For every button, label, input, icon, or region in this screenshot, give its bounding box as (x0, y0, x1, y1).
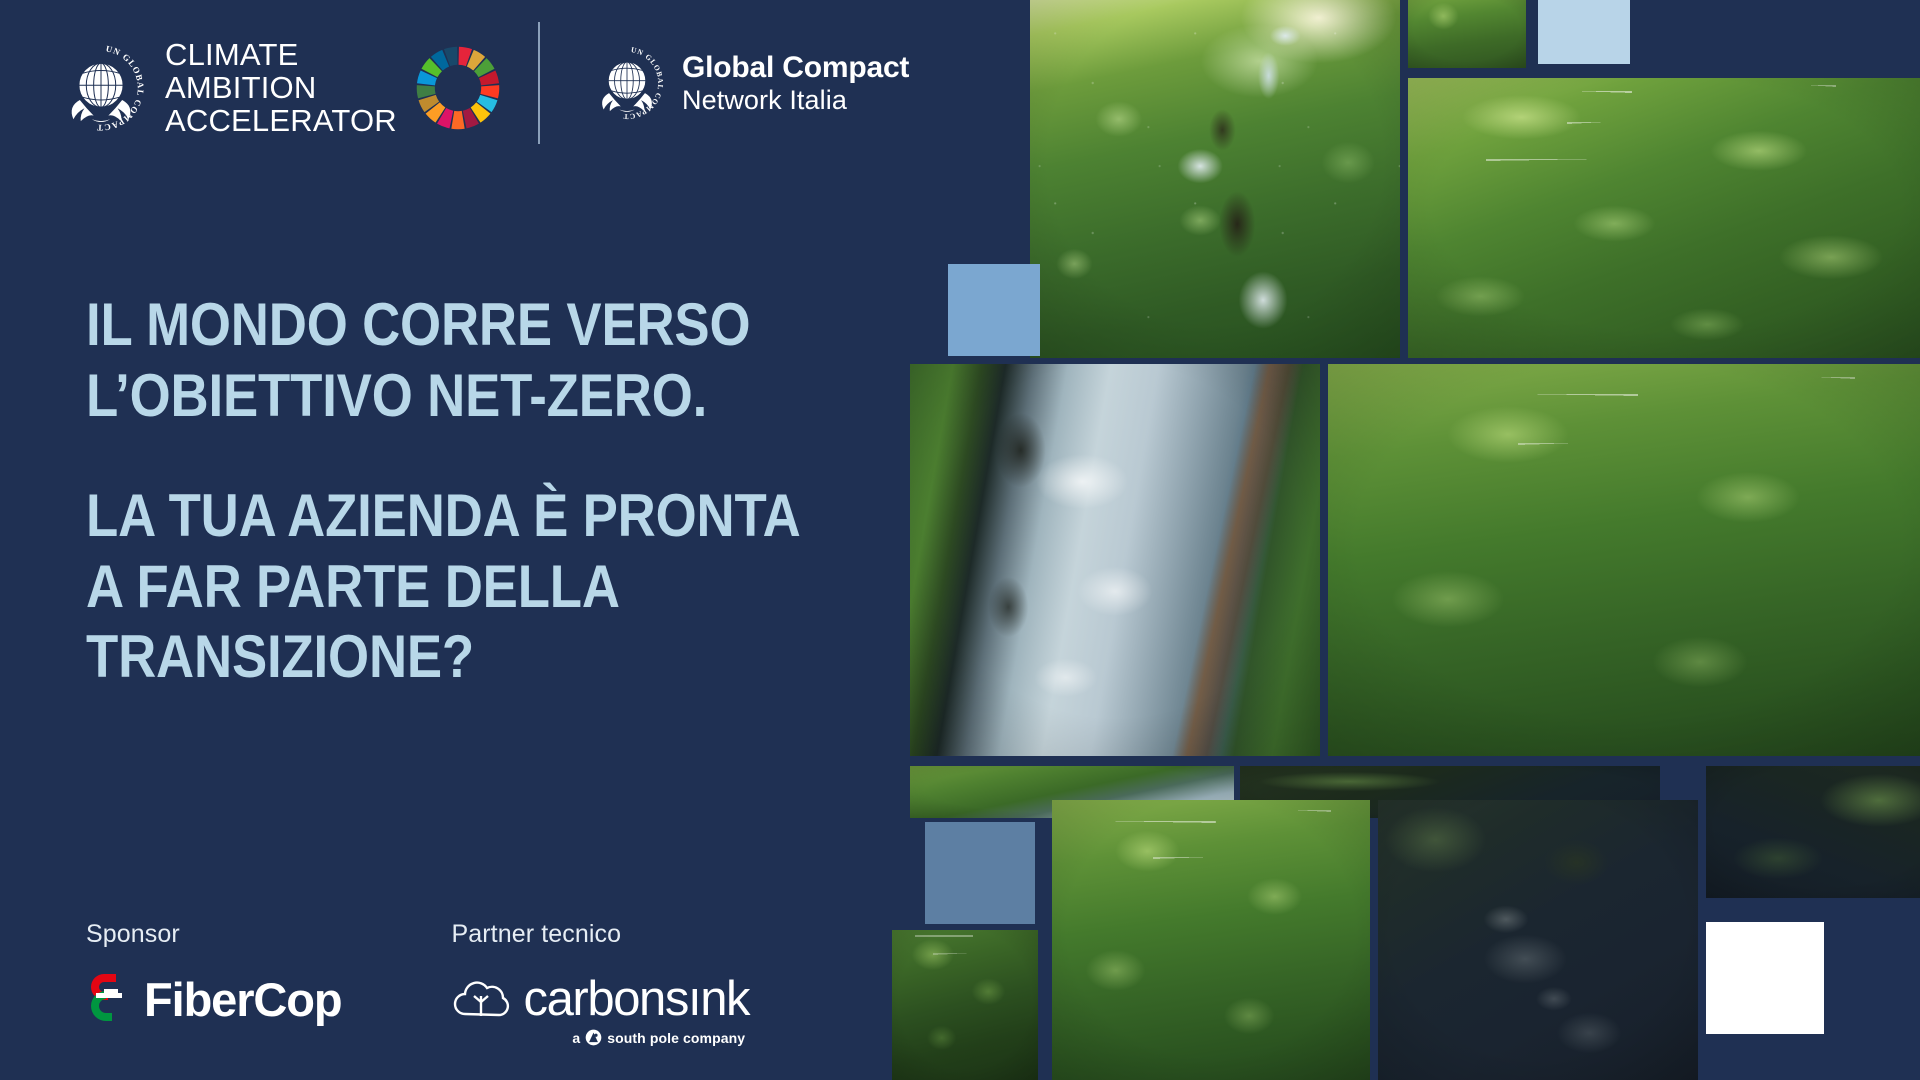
caa-line-2: AMBITION (165, 71, 397, 104)
climate-ambition-accelerator-wordmark: CLIMATE AMBITION ACCELERATOR (165, 38, 397, 137)
photo-river-sky-reflection (910, 364, 1320, 756)
photo-canopy-bright-right-vignette (1408, 78, 1920, 358)
sdg-color-wheel-icon (415, 45, 501, 131)
logo-bar: UN GLOBAL COMPACT (0, 0, 940, 170)
climate-ambition-accelerator-logo: UN GLOBAL COMPACT (55, 38, 501, 137)
footer-logos: Sponsor FiberCop Partner tecnico (86, 920, 749, 1046)
global-compact-network-wordmark: Global Compact Network Italia (682, 51, 909, 115)
photo-canopy-tall-trees-vignette (1052, 800, 1370, 1080)
accent-steel-blue-left (925, 822, 1035, 924)
headline-line-4: A FAR PARTE DELLA (86, 552, 816, 623)
photo-dark-water-reflection-vignette (1378, 800, 1698, 1080)
caa-line-3: ACCELERATOR (165, 104, 397, 137)
carbonsink-row: carbonsınk (451, 971, 749, 1027)
photo-edge-dark-right-vignette (1706, 766, 1920, 898)
photo-canopy-deep-right-vignette (1328, 364, 1920, 756)
photo-strip-canopy-top-vignette (1408, 0, 1526, 68)
sponsor-block: Sponsor FiberCop (86, 920, 341, 1027)
photo-canopy-deep-right (1328, 364, 1920, 756)
photo-forest-sunrise-river-vignette (1030, 0, 1400, 358)
global-compact-network-italia-logo: UN GLOBAL COMPACT (588, 44, 909, 122)
accent-light-blue-top (1538, 0, 1630, 64)
tagline-text: south pole company (607, 1030, 745, 1046)
un-global-compact-emblem-icon: UN GLOBAL COMPACT (588, 44, 666, 122)
photo-forest-shadow-edge (892, 930, 1038, 1080)
accent-mid-blue-left (948, 264, 1040, 356)
photo-dark-water-reflection (1378, 800, 1698, 1080)
photo-edge-dark-right (1706, 766, 1920, 898)
south-pole-tagline: a south pole company (572, 1029, 745, 1046)
photo-forest-sunrise-river (1030, 0, 1400, 358)
partner-block: Partner tecnico carbonsınk a (451, 920, 749, 1046)
headline-spacer (86, 431, 816, 481)
sdg-segment-9 (451, 111, 464, 129)
headline-line-1: IL MONDO CORRE VERSO (86, 290, 816, 361)
tagline-prefix: a (572, 1030, 580, 1046)
carbonsink-wordmark: carbonsınk (523, 971, 749, 1027)
photo-river-sky-reflection-vignette (910, 364, 1320, 756)
sponsor-label: Sponsor (86, 920, 341, 949)
photo-forest-shadow-edge-vignette (892, 930, 1038, 1080)
south-pole-mark-icon (585, 1029, 602, 1046)
photo-strip-canopy-top (1408, 0, 1526, 68)
gcn-line-1: Global Compact (682, 51, 909, 85)
carbonsink-logo: carbonsınk a south pole company (451, 971, 749, 1046)
carbonsink-cloud-tree-icon (451, 976, 513, 1022)
fibercop-mark-icon (86, 971, 132, 1027)
logo-divider (538, 22, 540, 144)
headline-line-3: LA TUA AZIENDA È PRONTA (86, 481, 816, 552)
gcn-line-2: Network Italia (682, 85, 909, 115)
headline-line-5: TRANSIZIONE? (86, 622, 816, 693)
image-mosaic (940, 0, 1920, 1080)
partner-label: Partner tecnico (451, 920, 749, 949)
photo-canopy-bright-right (1408, 78, 1920, 358)
headline: IL MONDO CORRE VERSO L’OBIETTIVO NET-ZER… (86, 290, 816, 693)
photo-canopy-tall-trees (1052, 800, 1370, 1080)
un-global-compact-emblem-icon: UN GLOBAL COMPACT (55, 42, 147, 134)
promo-banner: UN GLOBAL COMPACT (0, 0, 1920, 1080)
fibercop-logo: FiberCop (86, 971, 341, 1027)
accent-white-corner (1706, 922, 1824, 1034)
headline-line-2: L’OBIETTIVO NET-ZERO. (86, 361, 816, 432)
caa-line-1: CLIMATE (165, 38, 397, 71)
fibercop-wordmark: FiberCop (144, 972, 341, 1027)
